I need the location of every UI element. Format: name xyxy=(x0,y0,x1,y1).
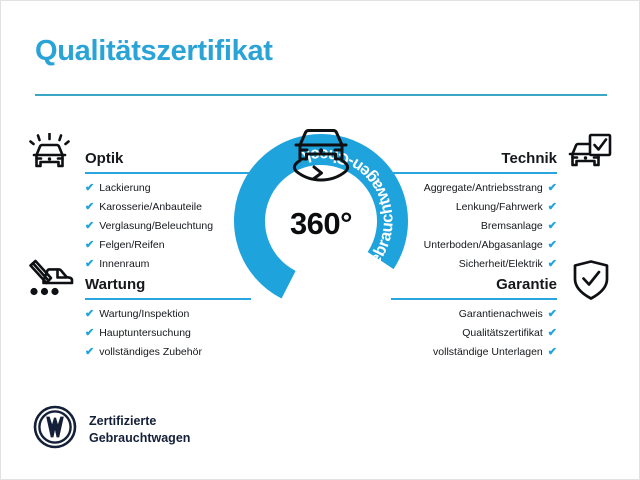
section-wartung-items: ✔ Wartung/Inspektion ✔ Hauptuntersuchung… xyxy=(85,309,251,358)
list-item-label: Bremsanlage xyxy=(481,221,543,232)
check-icon: ✔ xyxy=(548,183,557,194)
section-technik-title: Technik xyxy=(501,150,557,167)
car-front-shine-icon xyxy=(27,133,73,178)
list-item-label: Felgen/Reifen xyxy=(99,240,164,251)
section-technik-items: Aggregate/Antriebsstrang ✔ Lenkung/Fahrw… xyxy=(391,183,557,270)
list-item: Lenkung/Fahrwerk ✔ xyxy=(391,202,557,213)
vw-footer-line2: Gebrauchtwagen xyxy=(89,431,190,445)
check-icon: ✔ xyxy=(548,328,557,339)
check-icon: ✔ xyxy=(548,202,557,213)
list-item: Sicherheit/Elektrik ✔ xyxy=(391,259,557,270)
check-icon: ✔ xyxy=(85,221,94,232)
list-item: Qualitätszertifikat ✔ xyxy=(391,328,557,339)
list-item-label: vollständige Unterlagen xyxy=(433,347,543,358)
vw-footer: Zertifizierte Gebrauchtwagen xyxy=(33,405,190,454)
list-item-label: Verglasung/Beleuchtung xyxy=(99,221,213,232)
list-item-label: Innenraum xyxy=(99,259,149,270)
list-item: ✔ Innenraum xyxy=(85,259,251,270)
list-item: Aggregate/Antriebsstrang ✔ xyxy=(391,183,557,194)
list-item: Unterboden/Abgasanlage ✔ xyxy=(391,240,557,251)
section-garantie-title: Garantie xyxy=(496,276,557,293)
list-item: ✔ Verglasung/Beleuchtung xyxy=(85,221,251,232)
list-item: ✔ Karosserie/Anbauteile xyxy=(85,202,251,213)
vw-footer-line1: Zertifizierte xyxy=(89,414,156,428)
shield-check-icon xyxy=(571,259,611,306)
list-item-label: Unterboden/Abgasanlage xyxy=(424,240,543,251)
section-optik-items: ✔ Lackierung ✔ Karosserie/Anbauteile ✔ V… xyxy=(85,183,251,270)
certificate-page: Qualitätszertifikat xyxy=(0,0,640,480)
check-icon: ✔ xyxy=(548,259,557,270)
list-item-label: Sicherheit/Elektrik xyxy=(459,259,543,270)
list-item-label: Lenkung/Fahrwerk xyxy=(456,202,543,213)
list-item-label: Lackierung xyxy=(99,183,150,194)
section-wartung-header: Wartung xyxy=(85,270,251,296)
badge-360-gebrauchtwagen-check: Gebrauchtwagen-Check 360° xyxy=(227,127,415,315)
check-icon: ✔ xyxy=(85,202,94,213)
vw-logo-icon xyxy=(33,405,77,454)
section-garantie-header: Garantie xyxy=(391,270,557,296)
list-item-label: Karosserie/Anbauteile xyxy=(99,202,202,213)
check-icon: ✔ xyxy=(85,259,94,270)
list-item: ✔ Lackierung xyxy=(85,183,251,194)
section-optik: Optik ✔ Lackierung ✔ Karosserie/Anbautei… xyxy=(85,144,251,278)
check-icon: ✔ xyxy=(85,183,94,194)
list-item: ✔ Felgen/Reifen xyxy=(85,240,251,251)
check-icon: ✔ xyxy=(85,309,94,320)
page-title: Qualitätszertifikat xyxy=(35,35,273,68)
check-icon: ✔ xyxy=(548,221,557,232)
list-item: Garantienachweis ✔ xyxy=(391,309,557,320)
list-item: ✔ vollständiges Zubehör xyxy=(85,347,251,358)
section-wartung: Wartung ✔ Wartung/Inspektion ✔ Hauptunte… xyxy=(85,270,251,366)
section-optik-header: Optik xyxy=(85,144,251,170)
car-checkbox-icon xyxy=(567,133,613,178)
section-garantie: Garantie Garantienachweis ✔ Qualitätszer… xyxy=(391,270,557,366)
list-item: vollständige Unterlagen ✔ xyxy=(391,347,557,358)
list-item-label: Wartung/Inspektion xyxy=(99,309,189,320)
list-item-label: Aggregate/Antriebsstrang xyxy=(424,183,543,194)
list-item: ✔ Wartung/Inspektion xyxy=(85,309,251,320)
check-icon: ✔ xyxy=(548,240,557,251)
section-garantie-divider xyxy=(391,298,557,300)
check-icon: ✔ xyxy=(548,347,557,358)
list-item-label: Qualitätszertifikat xyxy=(462,328,543,339)
check-icon: ✔ xyxy=(85,347,94,358)
section-wartung-divider xyxy=(85,298,251,300)
check-icon: ✔ xyxy=(85,240,94,251)
section-garantie-items: Garantienachweis ✔ Qualitätszertifikat ✔… xyxy=(391,309,557,358)
list-item-label: Garantienachweis xyxy=(459,309,543,320)
list-item-label: Hauptuntersuchung xyxy=(99,328,191,339)
section-optik-title: Optik xyxy=(85,150,123,167)
section-optik-divider xyxy=(85,172,251,174)
section-technik: Technik Aggregate/Antriebsstrang ✔ Lenku… xyxy=(391,144,557,278)
section-technik-header: Technik xyxy=(391,144,557,170)
list-item: ✔ Hauptuntersuchung xyxy=(85,328,251,339)
car-front-rotate-icon xyxy=(283,121,359,188)
wrench-car-icon xyxy=(27,259,75,302)
vw-footer-text: Zertifizierte Gebrauchtwagen xyxy=(89,413,190,446)
section-technik-divider xyxy=(391,172,557,174)
check-icon: ✔ xyxy=(548,309,557,320)
list-item: Bremsanlage ✔ xyxy=(391,221,557,232)
check-icon: ✔ xyxy=(85,328,94,339)
list-item-label: vollständiges Zubehör xyxy=(99,347,202,358)
title-divider xyxy=(35,94,607,96)
section-wartung-title: Wartung xyxy=(85,276,145,293)
